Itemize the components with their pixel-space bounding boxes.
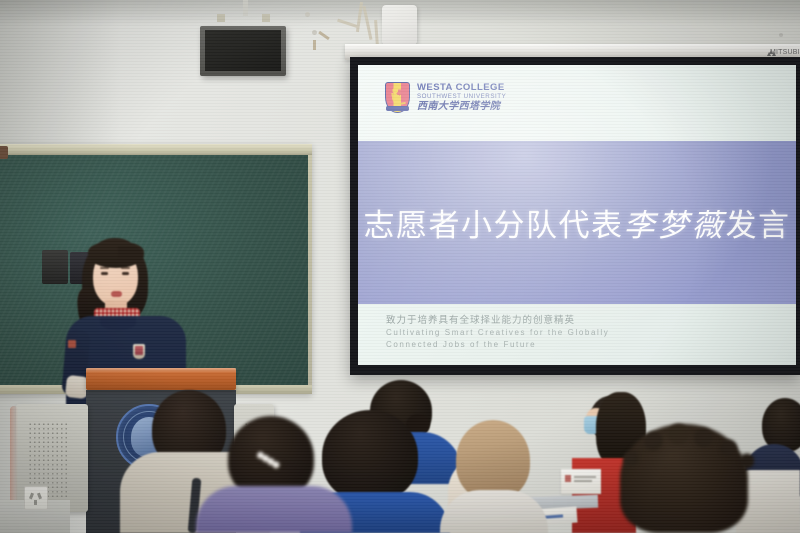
audience-member-8-hair: [614, 418, 754, 476]
presenter-eye: [122, 272, 129, 275]
monitor-bracket: [262, 14, 270, 22]
audience-member-2-body: [196, 486, 352, 533]
sleeve-badge-icon: [68, 340, 76, 348]
wall-mounted-monitor: [200, 26, 286, 76]
presentation-slide: WESTA COLLEGE SOUTHWEST UNIVERSITY 西南大学西…: [358, 65, 796, 365]
mitsubishi-brand-mark: MITSUBISHI: [768, 48, 798, 57]
presenter-bangs: [88, 242, 144, 268]
slide-title-suffix: 发言: [726, 208, 791, 244]
audience-member-6-head: [456, 420, 530, 500]
monitor-mount-arm: [243, 0, 248, 16]
logo-line-college: WESTA COLLEGE: [417, 83, 506, 93]
presenter-eyebrow: [121, 267, 130, 269]
logo-line-chinese: 西南大学西塔学院: [417, 102, 506, 112]
chalkboard-corner-bracket: [0, 146, 8, 159]
slide-footer-tagline: 致力于培养具有全球择业能力的创意精英 Cultivating Smart Cre…: [386, 315, 609, 351]
wall-mounted-access-point: [382, 5, 417, 45]
slide-title: 志愿者小分队代表李梦薇发言: [358, 200, 796, 245]
status-led-icon: [779, 33, 783, 37]
classroom-photo-scene: MITSUBISHI WESTA COLLEGE SOUTHWEST UNIVE…: [0, 0, 800, 533]
tagline-chinese: 致力于培养具有全球择业能力的创意精英: [386, 315, 609, 328]
slide-title-main: 志愿者小分队代表: [364, 208, 624, 244]
presenter-mouth: [111, 291, 122, 297]
shield-crest-icon: [385, 82, 410, 113]
monitor-bracket: [217, 14, 225, 22]
chalkboard-top-rail: [0, 144, 312, 155]
logo-line-university: SOUTHWEST UNIVERSITY: [417, 94, 506, 100]
presenter-eyebrow: [100, 267, 109, 269]
wall-nail-icon: [312, 30, 317, 35]
lectern-edge-shadow: [10, 406, 18, 510]
tagline-english-line2: Connected Jobs of the Future: [386, 340, 609, 351]
chest-crest-icon: [133, 344, 145, 359]
lectern-desktop-highlight: [86, 368, 236, 373]
projection-surface: WESTA COLLEGE SOUTHWEST UNIVERSITY 西南大学西…: [358, 65, 796, 365]
tagline-english-line1: Cultivating Smart Creatives for the Glob…: [386, 328, 609, 339]
slide-title-speaker-name: 李梦薇: [624, 208, 726, 244]
monitor-screen: [205, 30, 281, 71]
projection-screen: WESTA COLLEGE SOUTHWEST UNIVERSITY 西南大学西…: [350, 57, 800, 375]
audience-member-4-head: [322, 410, 418, 502]
westa-college-logo: WESTA COLLEGE SOUTHWEST UNIVERSITY 西南大学西…: [385, 82, 506, 113]
sweater-neckline: [100, 316, 136, 330]
desk-name-placard: [561, 469, 601, 494]
presenter-eye: [101, 272, 108, 275]
wall-power-outlet: [24, 486, 48, 510]
wall-hook-icon: [313, 40, 316, 50]
wall-nail-icon: [305, 12, 310, 17]
